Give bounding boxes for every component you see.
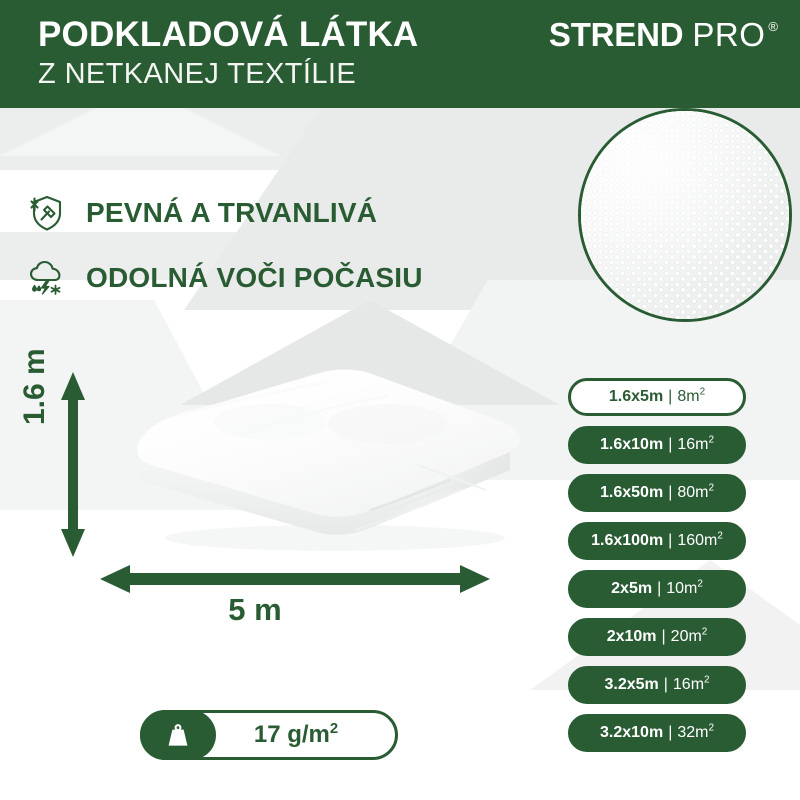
- height-label: 1.6 m: [18, 348, 52, 425]
- size-dimensions: 2x5m: [611, 580, 652, 598]
- size-separator: |: [664, 676, 668, 694]
- size-badge[interactable]: 1.6x100m | 160m2: [568, 522, 746, 560]
- size-area: 160m2: [677, 532, 723, 550]
- product-infographic: PODKLADOVÁ LÁTKA Z NETKANEJ TEXTÍLIE STR…: [0, 0, 800, 800]
- size-area: 32m2: [677, 724, 714, 742]
- height-dimension-arrow: [58, 372, 88, 557]
- title-main: PODKLADOVÁ LÁTKA: [38, 14, 418, 56]
- size-dimensions: 1.6x10m: [600, 436, 663, 454]
- size-dimensions: 3.2x5m: [604, 676, 658, 694]
- size-separator: |: [657, 580, 661, 598]
- product-dimension-diagram: 1.6 m 5 m: [0, 330, 560, 660]
- shield-hammer-icon: [24, 190, 70, 236]
- size-area: 16m2: [673, 676, 710, 694]
- size-separator: |: [668, 484, 672, 502]
- size-dimensions: 3.2x10m: [600, 724, 663, 742]
- size-area: 10m2: [666, 580, 703, 598]
- size-area: 80m2: [677, 484, 714, 502]
- size-dimensions: 2x10m: [607, 628, 657, 646]
- size-separator: |: [662, 628, 666, 646]
- width-label: 5 m: [228, 592, 281, 628]
- brand-logo: STREND PRO ®: [549, 18, 778, 52]
- page-title: PODKLADOVÁ LÁTKA Z NETKANEJ TEXTÍLIE: [38, 14, 418, 92]
- brand-name-primary: STREND: [549, 18, 683, 52]
- registered-trademark-icon: ®: [768, 20, 778, 34]
- size-badge[interactable]: 3.2x10m | 32m2: [568, 714, 746, 752]
- size-dimensions: 1.6x5m: [609, 388, 663, 406]
- folded-white-fabric: [120, 362, 540, 562]
- weight-exponent: 2: [330, 721, 338, 737]
- size-badge[interactable]: 1.6x5m | 8m2: [568, 378, 746, 416]
- weight-badge: 17 g/m2: [140, 710, 398, 760]
- cloud-rain-lightning-snow-icon: [24, 255, 70, 301]
- fabric-texture-highlight: [581, 111, 789, 319]
- size-separator: |: [668, 388, 672, 406]
- fabric-texture-circle: [578, 108, 792, 322]
- size-dimensions: 1.6x50m: [600, 484, 663, 502]
- size-dimensions: 1.6x100m: [591, 532, 663, 550]
- feature-label: ODOLNÁ VOČI POČASIU: [86, 262, 423, 294]
- header-bar: PODKLADOVÁ LÁTKA Z NETKANEJ TEXTÍLIE STR…: [0, 0, 800, 108]
- size-badge[interactable]: 1.6x10m | 16m2: [568, 426, 746, 464]
- size-badge[interactable]: 1.6x50m | 80m2: [568, 474, 746, 512]
- size-badge[interactable]: 3.2x5m | 16m2: [568, 666, 746, 704]
- brand-name-secondary: PRO: [692, 18, 765, 52]
- size-badge[interactable]: 2x10m | 20m2: [568, 618, 746, 656]
- size-badge[interactable]: 2x5m | 10m2: [568, 570, 746, 608]
- size-area: 20m2: [671, 628, 708, 646]
- width-dimension-arrow: [100, 562, 490, 596]
- size-options-list: 1.6x5m | 8m2 1.6x10m | 16m2 1.6x50m | 80…: [568, 378, 746, 762]
- title-subtitle: Z NETKANEJ TEXTÍLIE: [38, 56, 418, 92]
- size-separator: |: [668, 532, 672, 550]
- feature-weather-resistance: ODOLNÁ VOČI POČASIU: [24, 255, 423, 301]
- size-separator: |: [668, 436, 672, 454]
- size-separator: |: [668, 724, 672, 742]
- feature-durability: PEVNÁ A TRVANLIVÁ: [24, 190, 377, 236]
- size-area: 16m2: [677, 436, 714, 454]
- feature-label: PEVNÁ A TRVANLIVÁ: [86, 197, 377, 229]
- weight-icon: [140, 710, 216, 760]
- size-area: 8m2: [677, 388, 705, 406]
